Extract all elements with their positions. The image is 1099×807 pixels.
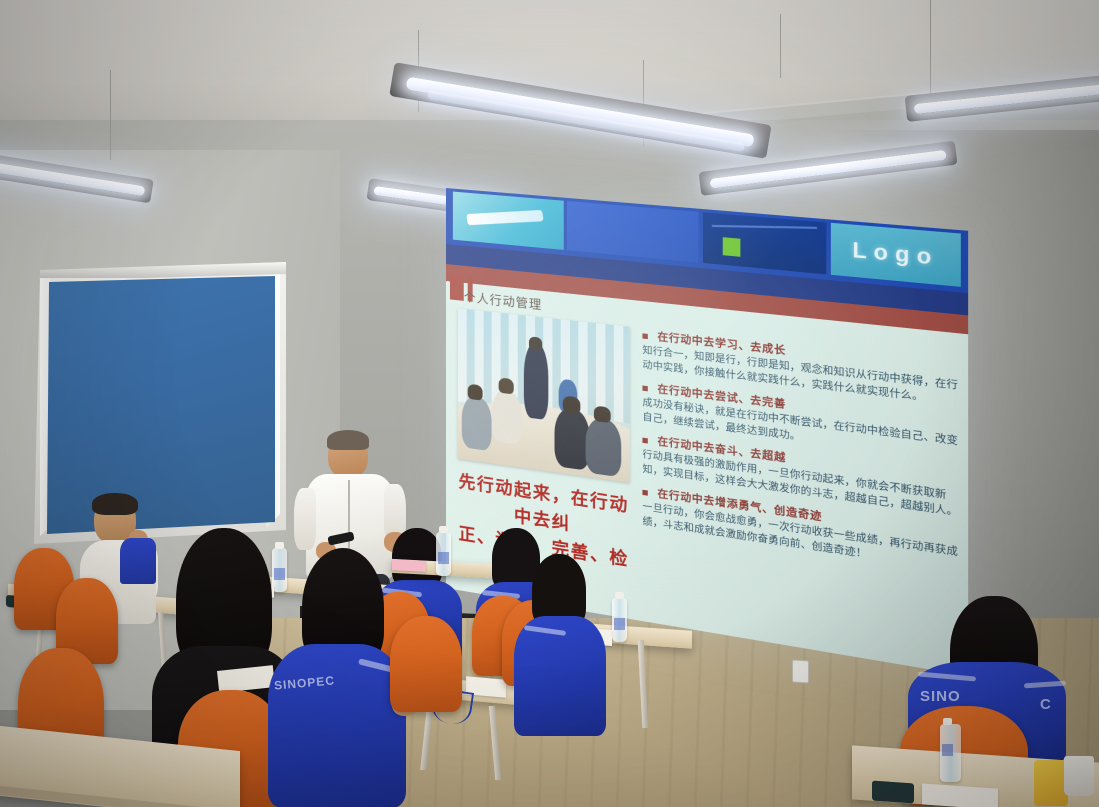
cup[interactable] [1064,756,1094,796]
photo-figure-standing [524,342,548,420]
bullet-square-icon [642,385,647,391]
photo-figure-seated-c-head [563,395,581,414]
light-cord [780,14,781,78]
uniform-brand-text-tail: C [1040,696,1052,713]
banner-image-panel-1 [453,192,564,250]
photo-figure-seated-a [492,389,522,446]
bottle-label [438,552,449,564]
photo-figure-seated-b-head [468,384,483,401]
water-bottle[interactable] [436,532,451,576]
photo-figure-seated-c [555,407,590,471]
slide-photo [458,308,630,482]
bottle-label [614,618,625,630]
bottle-cap [615,592,624,599]
photo-figure-seated-d [586,417,622,478]
slide-accent-tick [450,275,464,300]
banner-image-panel-3 [703,212,826,274]
photo-figure-seated-d-head [594,405,611,423]
bottle-label [942,744,953,756]
presenter-hair [327,430,369,450]
bottle-cap [439,526,448,533]
bullet-square-icon [642,489,647,495]
handout-paper[interactable] [922,783,998,807]
wall-outlet [792,660,809,684]
banner-logo-panel: Logo [831,223,961,287]
photo-figure-seated-a-head [499,377,514,394]
uniform-brand-text-short: SINO [920,688,961,705]
banner-streak [466,210,543,225]
bottle-cap [943,718,952,725]
light-cord [930,0,931,96]
banner-line [712,225,817,229]
water-bottle[interactable] [612,598,627,642]
water-bottle[interactable] [940,724,961,782]
banner-image-panel-2 [567,201,699,262]
logo-placeholder-text: Logo [852,238,938,271]
slide-bullet-list: 在行动中去学习、去成长 知行合一，知即是行，行即是知，观念和知识从行动中获得，在… [642,326,958,582]
snack-bag[interactable] [1034,760,1068,806]
banner-green-block [723,237,741,257]
bullet-square-icon [642,333,647,339]
attendee-1-hair [92,493,138,515]
phone-on-desk[interactable] [872,781,914,804]
photo-figure-standing-head [529,336,542,351]
photo-figure-seated-b [462,395,492,451]
classroom-photo-scene: Logo 个人行动管理 [0,0,1099,807]
light-cord [110,70,111,160]
attendee-6 [518,554,608,734]
bullet-square-icon [642,437,647,443]
chair-center-right[interactable] [390,616,462,712]
